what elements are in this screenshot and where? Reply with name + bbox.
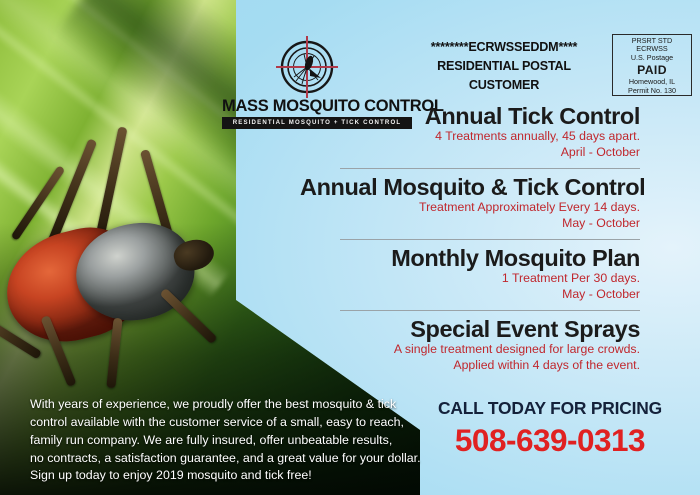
tick-illustration xyxy=(6,218,226,368)
service-divider xyxy=(340,310,640,311)
service-season: Applied within 4 days of the event. xyxy=(300,358,640,374)
service-season: May - October xyxy=(300,287,640,303)
service-item-annual-mosquito-tick-control: Annual Mosquito & Tick Control Treatment… xyxy=(300,175,640,232)
postage-permit-stamp: PRSRT STD ECRWSS U.S. Postage PAID Homew… xyxy=(612,34,692,96)
cta-heading: CALL TODAY FOR PRICING xyxy=(420,398,680,419)
service-list: Annual Tick Control 4 Treatments annuall… xyxy=(300,104,640,373)
postal-customer-line: RESIDENTIAL POSTAL CUSTOMER xyxy=(404,57,604,95)
stamp-paid-label: PAID xyxy=(613,63,691,77)
stamp-line-permit: Permit No. 130 xyxy=(613,87,691,95)
service-detail: Treatment Approximately Every 14 days. xyxy=(300,200,640,216)
service-item-special-event-sprays: Special Event Sprays A single treatment … xyxy=(300,317,640,374)
service-divider xyxy=(340,168,640,169)
service-season: April - October xyxy=(300,145,640,161)
service-detail: 4 Treatments annually, 45 days apart. xyxy=(300,129,640,145)
service-detail: 1 Treatment Per 30 days. xyxy=(300,271,640,287)
blurb-line: family run company. We are fully insured… xyxy=(30,432,410,450)
phone-number[interactable]: 508-639-0313 xyxy=(420,422,680,459)
blurb-line: no contracts, a satisfaction guarantee, … xyxy=(30,450,410,468)
service-item-monthly-mosquito-plan: Monthly Mosquito Plan 1 Treatment Per 30… xyxy=(300,246,640,303)
service-item-annual-tick-control: Annual Tick Control 4 Treatments annuall… xyxy=(300,104,640,161)
service-detail: A single treatment designed for large cr… xyxy=(300,342,640,358)
service-divider xyxy=(340,239,640,240)
service-title: Annual Tick Control xyxy=(300,104,640,129)
blurb-line: control available with the customer serv… xyxy=(30,414,410,432)
service-title: Annual Mosquito & Tick Control xyxy=(300,175,640,200)
mosquito-crosshair-icon xyxy=(274,36,340,98)
service-season: May - October xyxy=(300,216,640,232)
blurb-line: Sign up today to enjoy 2019 mosquito and… xyxy=(30,467,410,485)
postal-route-line: ********ECRWSSEDDM**** xyxy=(404,38,604,57)
tick-leg xyxy=(159,288,217,344)
blurb-line: With years of experience, we proudly off… xyxy=(30,396,410,414)
stamp-line-postage: U.S. Postage xyxy=(613,54,691,62)
company-blurb: With years of experience, we proudly off… xyxy=(30,396,410,485)
service-title: Special Event Sprays xyxy=(300,317,640,342)
postal-indicia: ********ECRWSSEDDM**** RESIDENTIAL POSTA… xyxy=(404,34,696,96)
postcard-mailer: MASS MOSQUITO CONTROL RESIDENTIAL MOSQUI… xyxy=(0,0,700,495)
postal-address-block: ********ECRWSSEDDM**** RESIDENTIAL POSTA… xyxy=(404,38,604,95)
call-to-action: CALL TODAY FOR PRICING 508-639-0313 xyxy=(420,398,680,459)
service-title: Monthly Mosquito Plan xyxy=(300,246,640,271)
